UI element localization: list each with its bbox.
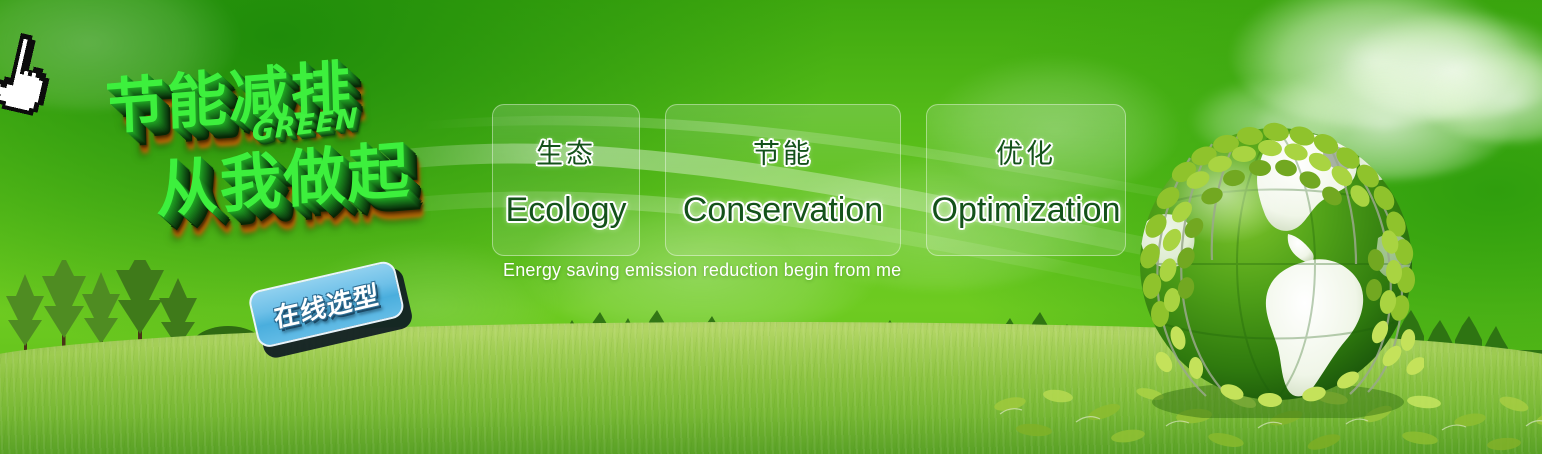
eco-banner: 节能减排 GREEN 从我做起 在线选型 生态 Ecology 节能 Conse… [0, 0, 1542, 454]
feature-card-cn-label: 节能 [753, 132, 813, 171]
feature-card-ecology[interactable]: 生态 Ecology [492, 104, 640, 256]
feature-card-optimization[interactable]: 优化 Optimization [926, 104, 1126, 256]
grass-texture [0, 322, 1542, 454]
feature-card-list: 生态 Ecology 节能 Conservation 优化 Optimizati… [492, 104, 1126, 256]
feature-card-conservation[interactable]: 节能 Conservation [665, 104, 901, 256]
feature-card-en-label: Conservation [683, 191, 883, 230]
feature-card-cn-label: 生态 [536, 132, 596, 171]
feature-card-cn-label: 优化 [996, 132, 1056, 171]
feature-card-en-label: Ecology [506, 191, 627, 230]
tagline: Energy saving emission reduction begin f… [503, 260, 901, 281]
grass-field [0, 322, 1542, 454]
feature-card-en-label: Optimization [932, 191, 1121, 230]
